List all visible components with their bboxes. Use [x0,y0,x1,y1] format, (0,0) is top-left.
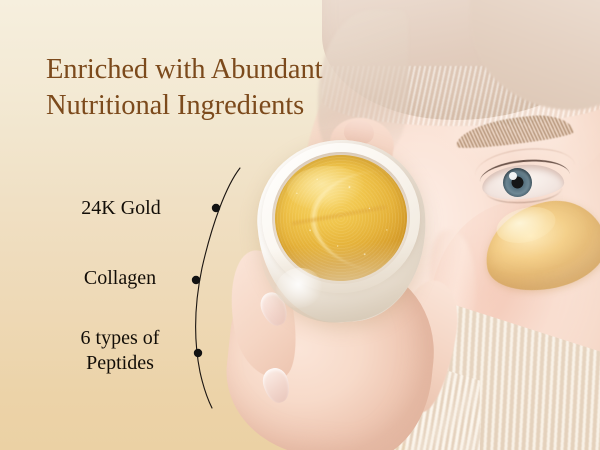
ingredient-label-24k-gold: 24K Gold [21,196,221,221]
headline-line-2: Nutritional Ingredients [46,88,346,124]
ingredient-label-text: Collagen [84,267,156,289]
ingredient-label-peptides: 6 types of Peptides [20,326,220,376]
ingredient-label-text-line1: 6 types of [81,327,160,349]
headline: Enriched with Abundant Nutritional Ingre… [46,52,346,124]
product-poster: Enriched with Abundant Nutritional Ingre… [0,0,600,450]
ingredient-label-text-line2: Peptides [86,352,154,374]
ingredient-label-collagen: Collagen [20,266,220,291]
headline-line-1: Enriched with Abundant [46,52,346,88]
ingredient-label-text: 24K Gold [81,197,160,219]
